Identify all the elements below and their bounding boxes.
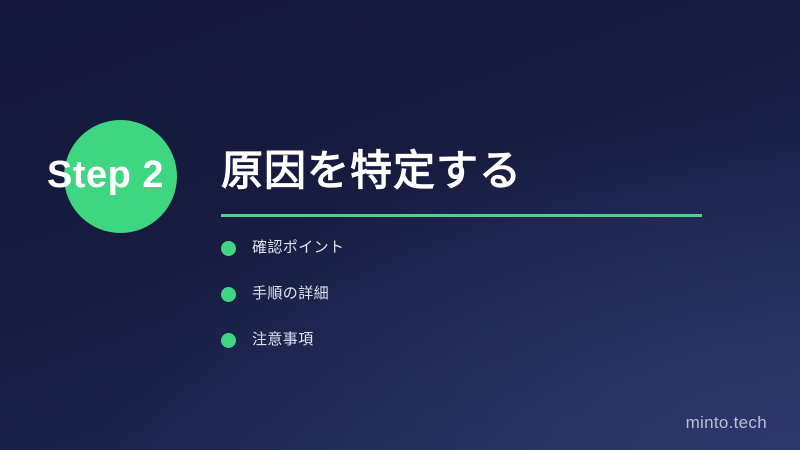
list-item-label: 手順の詳細	[252, 282, 329, 306]
bullet-dot-icon	[221, 333, 236, 348]
bullet-dot-icon	[221, 287, 236, 302]
footer-brand-label: minto.tech	[686, 412, 767, 434]
presentation-slide: Step 2 原因を特定する 確認ポイント 手順の詳細 注意事項 minto.t…	[0, 0, 800, 450]
bullet-list: 確認ポイント 手順の詳細 注意事項	[221, 236, 691, 374]
list-item-label: 注意事項	[252, 328, 314, 352]
step-badge-label: Step 2	[47, 154, 164, 196]
list-item-label: 確認ポイント	[252, 236, 344, 260]
bullet-dot-icon	[221, 241, 236, 256]
page-title: 原因を特定する	[221, 145, 703, 197]
list-item: 手順の詳細	[221, 282, 691, 306]
list-item: 注意事項	[221, 328, 691, 352]
title-block: 原因を特定する	[221, 145, 703, 217]
title-underline-divider	[221, 214, 702, 217]
list-item: 確認ポイント	[221, 236, 691, 260]
